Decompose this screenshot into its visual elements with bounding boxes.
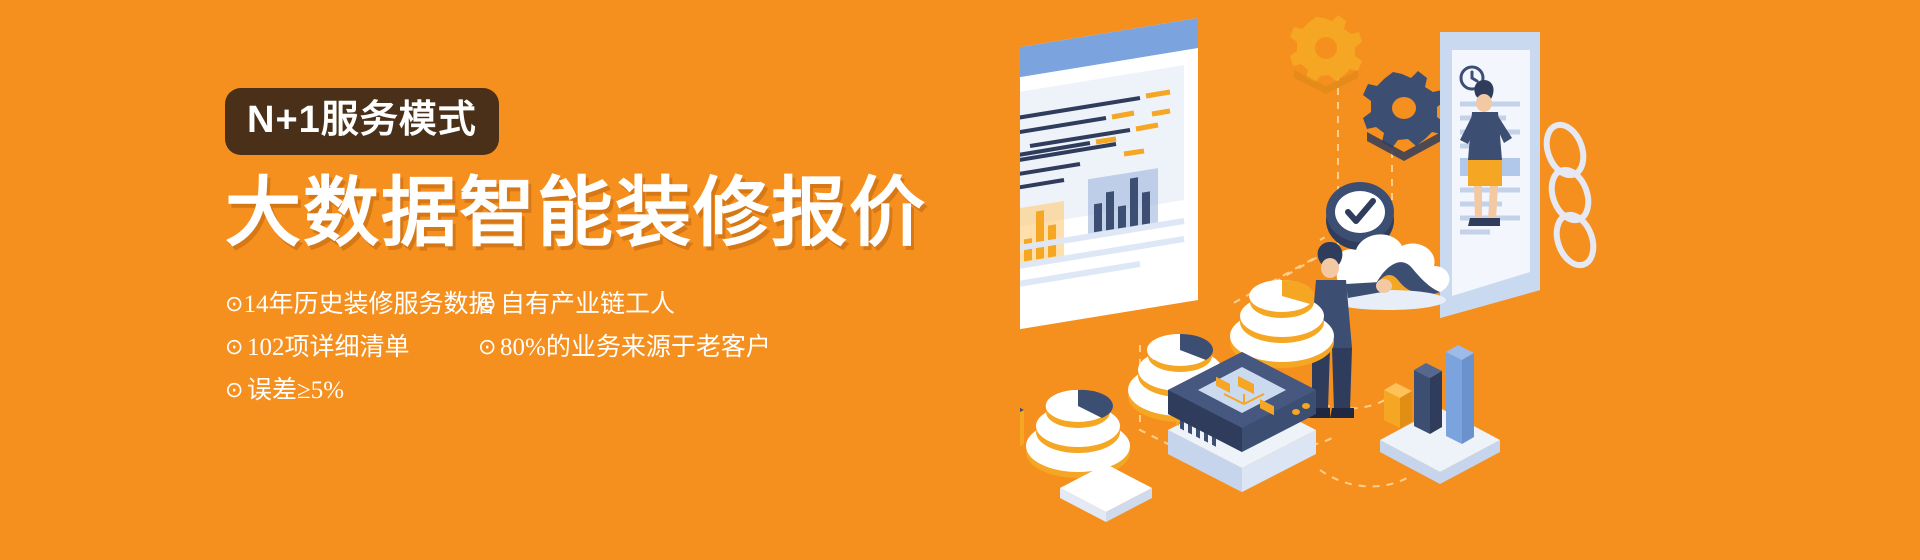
page-title: 大数据智能装修报价	[225, 175, 985, 253]
list-item-label: 误差≥5%	[247, 378, 344, 403]
circled-dot-icon: ⊙	[478, 336, 500, 358]
list-item-label: 14年历史装修服务数据	[243, 292, 493, 317]
gear-platform	[1020, 378, 1024, 476]
copy-block: N+1服务模式 大数据智能装修报价 ⊙ 14年历史装修服务数据 ⊙ 102项详细…	[225, 88, 985, 412]
feature-list-left: ⊙ 14年历史装修服务数据 ⊙ 102项详细清单 ⊙ 误差≥5%	[225, 283, 478, 412]
rings-decoration	[1540, 120, 1600, 270]
gear-orange-icon	[1290, 15, 1362, 94]
circled-dot-icon: ⊙	[478, 293, 500, 315]
gear-navy-icon	[1363, 71, 1445, 161]
circled-dot-icon: ⊙	[225, 336, 247, 358]
feature-list-right: ⊙ 自有产业链工人 ⊙ 80%的业务来源于老客户	[478, 283, 778, 412]
list-item: ⊙ 误差≥5%	[225, 369, 478, 412]
bars	[1384, 345, 1474, 444]
list-item-label: 自有产业链工人	[500, 292, 675, 317]
bar-chart-pedestal	[1380, 345, 1500, 484]
browser-window	[1020, 18, 1198, 352]
list-item: ⊙ 14年历史装修服务数据	[225, 283, 478, 326]
isometric-illustration	[1020, 0, 1660, 560]
promo-banner: N+1服务模式 大数据智能装修报价 ⊙ 14年历史装修服务数据 ⊙ 102项详细…	[0, 0, 1920, 560]
list-item-label: 102项详细清单	[247, 335, 410, 360]
list-item: ⊙ 80%的业务来源于老客户	[478, 326, 778, 369]
service-model-badge: N+1服务模式	[225, 88, 499, 155]
list-item-label: 80%的业务来源于老客户	[500, 335, 771, 360]
circled-dot-icon: ⊙	[225, 293, 243, 315]
list-item: ⊙ 自有产业链工人	[478, 283, 778, 326]
circled-dot-icon: ⊙	[225, 379, 247, 401]
list-item: ⊙ 102项详细清单	[225, 326, 478, 369]
feature-list: ⊙ 14年历史装修服务数据 ⊙ 102项详细清单 ⊙ 误差≥5% ⊙ 自有产业链…	[225, 283, 985, 412]
